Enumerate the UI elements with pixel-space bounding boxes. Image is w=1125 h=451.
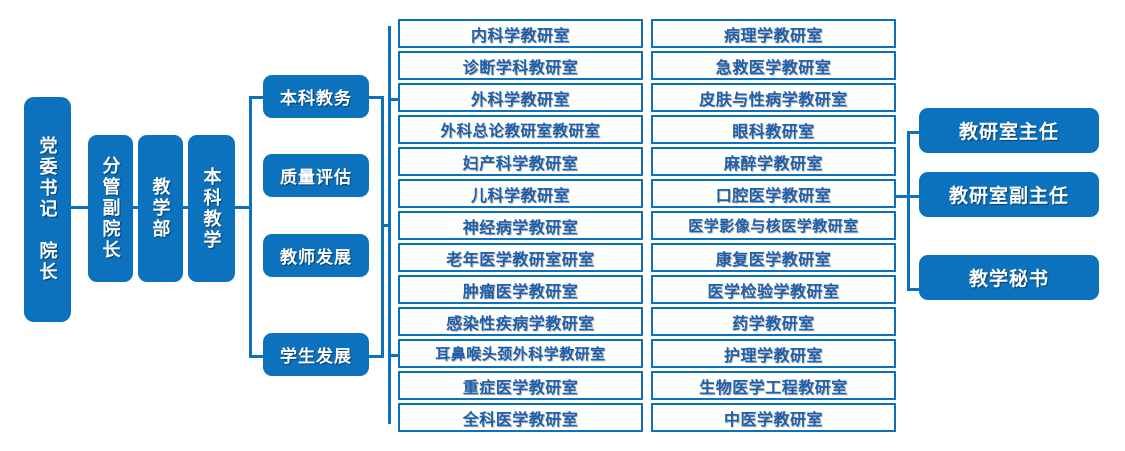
department-item-right-12[interactable]: 中医学教研室	[651, 403, 896, 432]
department-item-left-8[interactable]: 肿瘤医学教研室	[398, 275, 643, 304]
node-undergraduate-teaching[interactable]: 本科教学	[188, 135, 235, 282]
list-bus-outer-vertical	[388, 26, 391, 424]
department-item-left-7[interactable]: 老年医学教研室研室	[398, 243, 643, 272]
department-item-right-1[interactable]: 急救医学教研室	[651, 51, 896, 80]
department-item-right-7[interactable]: 康复医学教研室	[651, 243, 896, 272]
node-undergraduate-academic-affairs[interactable]: 本科教务	[263, 75, 369, 118]
department-item-left-2[interactable]: 外科学教研室	[398, 83, 643, 112]
department-item-right-5[interactable]: 口腔医学教研室	[651, 179, 896, 208]
node-teaching-secretary[interactable]: 教学秘书	[919, 255, 1099, 300]
department-item-right-6[interactable]: 医学影像与核医学教研室	[651, 211, 896, 240]
node-party-secretary-dean[interactable]: 党委书记 院长	[24, 97, 71, 322]
org-chart-canvas: 党委书记 院长 分管副院长 教学部 本科教学 本科教务 质量评估 教师发展 学生…	[0, 0, 1125, 451]
node-student-development[interactable]: 学生发展	[263, 333, 369, 376]
department-item-right-2[interactable]: 皮肤与性病学教研室	[651, 83, 896, 112]
department-item-right-4[interactable]: 麻醉学教研室	[651, 147, 896, 176]
department-item-left-3[interactable]: 外科总论教研室教研室	[398, 115, 643, 144]
department-item-right-11[interactable]: 生物医学工程教研室	[651, 371, 896, 400]
node-department-deputy-director[interactable]: 教研室副主任	[919, 172, 1099, 217]
list-bus-inner-vertical	[381, 96, 384, 358]
department-item-right-8[interactable]: 医学检验学教研室	[651, 275, 896, 304]
department-item-left-11[interactable]: 重症医学教研室	[398, 371, 643, 400]
department-item-right-3[interactable]: 眼科教研室	[651, 115, 896, 144]
department-item-left-10[interactable]: 耳鼻喉头颈外科学教研室	[398, 339, 643, 368]
roles-bus-vertical	[907, 131, 910, 291]
node-quality-evaluation[interactable]: 质量评估	[263, 154, 369, 197]
department-item-left-0[interactable]: 内科学教研室	[398, 19, 643, 48]
department-item-left-1[interactable]: 诊断学科教研室	[398, 51, 643, 80]
department-item-left-5[interactable]: 儿科学教研室	[398, 179, 643, 208]
department-item-right-0[interactable]: 病理学教研室	[651, 19, 896, 48]
department-item-left-12[interactable]: 全科医学教研室	[398, 403, 643, 432]
node-teaching-department[interactable]: 教学部	[138, 135, 183, 282]
department-item-left-9[interactable]: 感染性疾病学教研室	[398, 307, 643, 336]
department-item-left-4[interactable]: 妇产科学教研室	[398, 147, 643, 176]
node-department-director[interactable]: 教研室主任	[919, 108, 1099, 153]
function-bus-vertical	[249, 96, 252, 358]
node-teacher-development[interactable]: 教师发展	[263, 234, 369, 277]
department-item-left-6[interactable]: 神经病学教研室	[398, 211, 643, 240]
department-item-right-10[interactable]: 护理学教研室	[651, 339, 896, 368]
department-item-right-9[interactable]: 药学教研室	[651, 307, 896, 336]
node-vice-dean[interactable]: 分管副院长	[88, 135, 133, 282]
